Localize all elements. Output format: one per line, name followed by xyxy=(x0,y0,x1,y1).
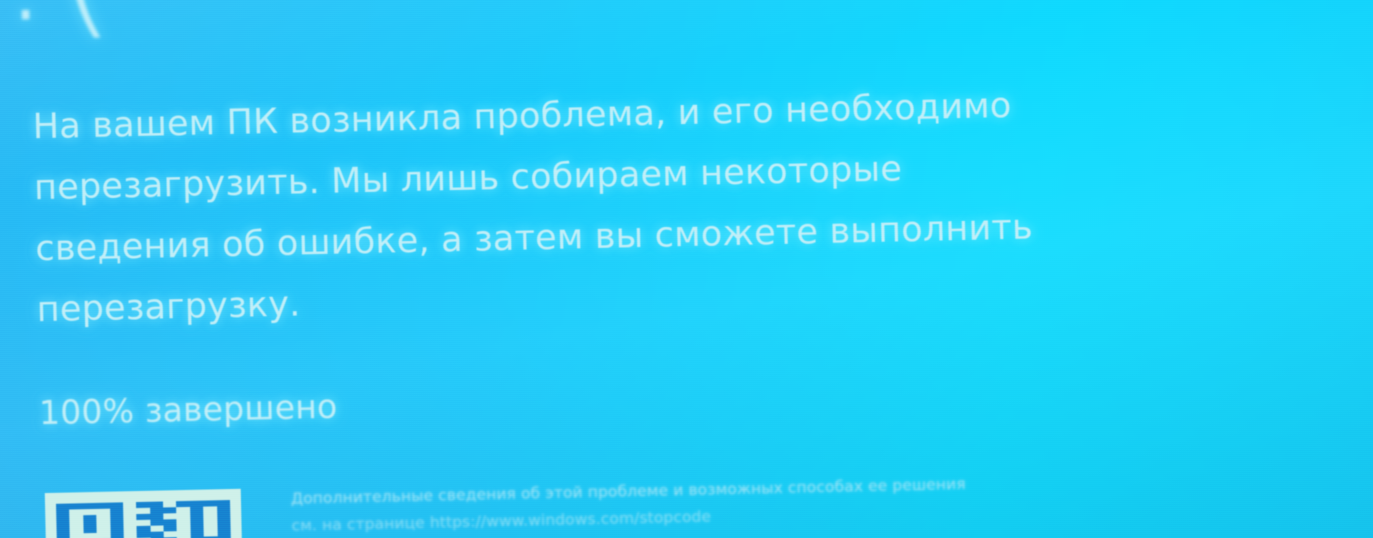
progress-label: 100% завершено xyxy=(39,387,338,433)
content-plane: :( На вашем ПК возникла проблема, и его … xyxy=(0,0,1373,538)
qr-code-grid xyxy=(56,500,232,538)
error-message: На вашем ПК возникла проблема, и его нео… xyxy=(32,73,1127,341)
bsod-screen: :( На вашем ПК возникла проблема, и его … xyxy=(0,0,1373,538)
sad-face-icon: :( xyxy=(0,0,122,44)
qr-code xyxy=(45,489,243,538)
